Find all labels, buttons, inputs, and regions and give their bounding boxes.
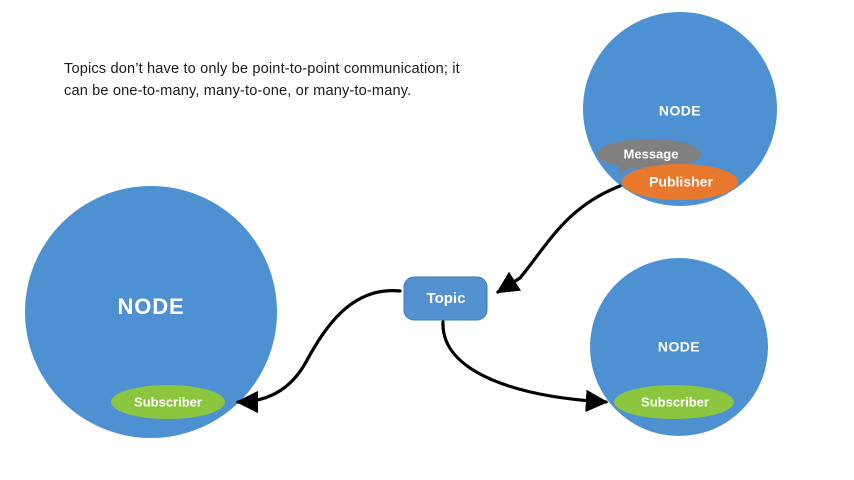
slide-canvas: Topics don’t have to only be point-to-po… — [0, 0, 854, 480]
node-bottom-right[interactable]: NODE Subscriber — [590, 258, 768, 436]
node-bottom-right-label: NODE — [658, 339, 700, 355]
message-bubble-label: Message — [624, 146, 679, 161]
diagram-canvas: NODE Subscriber NODE Message Publisher — [0, 0, 854, 480]
subscriber-left-label: Subscriber — [134, 394, 202, 409]
node-top-right-label: NODE — [659, 103, 701, 119]
subscriber-bottom-right[interactable]: Subscriber — [614, 385, 734, 419]
subscriber-bottom-right-label: Subscriber — [641, 394, 709, 409]
arrow-publisher-to-topic — [498, 186, 620, 292]
subscriber-left[interactable]: Subscriber — [111, 385, 225, 419]
arrow-topic-to-subscriber-bottom-right — [443, 322, 606, 402]
node-left-label: NODE — [117, 294, 184, 319]
node-top-right[interactable]: NODE Message Publisher — [583, 12, 777, 206]
node-left[interactable]: NODE Subscriber — [25, 186, 277, 438]
topic-box[interactable]: Topic — [404, 277, 487, 320]
topic-box-label: Topic — [427, 290, 466, 307]
publisher-label: Publisher — [649, 174, 713, 190]
publisher-top-right[interactable]: Publisher — [622, 164, 738, 200]
